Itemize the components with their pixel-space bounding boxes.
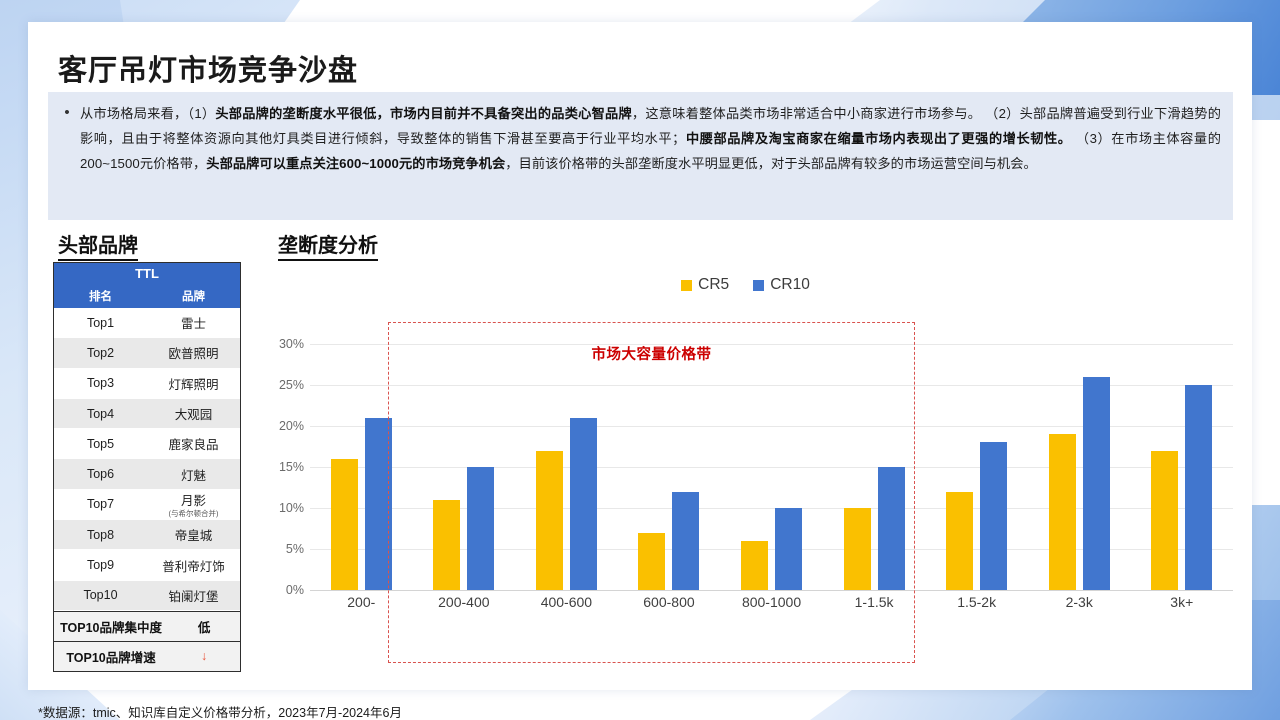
cell-rank: Top5: [54, 437, 147, 451]
column-header-rank: 排名: [54, 288, 147, 304]
legend-item-cr5: CR5: [681, 276, 729, 294]
cell-rank: Top2: [54, 346, 147, 360]
bar-cr10: [980, 442, 1007, 590]
summary-box: • 从市场格局来看，（1）头部品牌的垄断度水平很低，市场内目前并不具备突出的品类…: [48, 92, 1233, 220]
table-row: Top1雷士: [54, 308, 240, 338]
y-axis-tick-label: 25%: [258, 378, 304, 392]
highlight-price-band-label: 市场大容量价格带: [388, 343, 915, 364]
table-summary-row: TOP10品牌增速↓: [54, 641, 240, 671]
y-axis-tick-label: 10%: [258, 501, 304, 515]
legend-swatch-icon: [753, 280, 764, 291]
summary-segment-5: 头部品牌可以重点关注600~1000元的市场竞争机会: [206, 156, 505, 171]
cell-brand: 欧普照明: [147, 343, 240, 362]
trend-down-icon: ↓: [168, 649, 240, 663]
cell-rank: Top10: [54, 588, 147, 602]
bar-cr10: [1185, 385, 1212, 590]
bar-group: [1028, 344, 1131, 590]
legend-item-cr10: CR10: [753, 276, 810, 294]
x-axis-tick-label: 2-3k: [1028, 594, 1131, 610]
top-brand-table: TTL 排名 品牌 Top1雷士Top2欧普照明Top3灯辉照明Top4大观园T…: [53, 262, 241, 672]
bar-cr5: [1151, 451, 1178, 590]
bar-cr5: [1049, 434, 1076, 590]
y-axis-tick-label: 15%: [258, 460, 304, 474]
cell-rank: Top6: [54, 467, 147, 481]
page-title: 客厅吊灯市场竞争沙盘: [58, 47, 358, 89]
summary-key: TOP10品牌集中度: [54, 617, 168, 636]
cell-rank: Top1: [54, 316, 147, 330]
table-row: Top2欧普照明: [54, 338, 240, 368]
summary-key: TOP10品牌增速: [54, 647, 168, 666]
legend-swatch-icon: [681, 280, 692, 291]
cell-brand: 鹿家良品: [147, 434, 240, 453]
bullet-icon: •: [54, 101, 80, 211]
summary-segment-3: 中腰部品牌及淘宝商家在缩量市场内表现出了更强的增长韧性。: [685, 131, 1071, 146]
cell-brand: 灯辉照明: [147, 374, 240, 393]
table-row: Top4大观园: [54, 399, 240, 429]
summary-segment-6: ，目前该价格带的头部垄断度水平明显更低，对于头部品牌有较多的市场运营空间与机会。: [505, 156, 1037, 171]
legend-label: CR5: [698, 276, 729, 294]
y-axis-tick-label: 30%: [258, 337, 304, 351]
cell-brand: 铂阑灯堡: [147, 586, 240, 605]
legend-label: CR10: [770, 276, 810, 294]
section-header-monopoly: 垄断度分析: [278, 229, 378, 261]
bar-cr5: [331, 459, 358, 590]
bar-group: [1131, 344, 1234, 590]
table-row: Top7月影(与希尔顿合并): [54, 490, 240, 520]
x-axis-tick-label: 1.5-2k: [925, 594, 1028, 610]
y-axis-tick-label: 5%: [258, 542, 304, 556]
section-header-brand: 头部品牌: [58, 229, 138, 261]
cell-brand: 帝皇城: [147, 525, 240, 544]
cell-rank: Top8: [54, 528, 147, 542]
table-row: Top10铂阑灯堡: [54, 581, 240, 611]
cell-brand: 灯魅: [147, 465, 240, 484]
footnote: *数据源：tmic、知识库自定义价格带分析，2023年7月-2024年6月: [38, 702, 402, 720]
cell-rank: Top9: [54, 558, 147, 572]
table-row: Top8帝皇城: [54, 520, 240, 550]
y-axis-tick-label: 0%: [258, 583, 304, 597]
y-axis-tick-label: 20%: [258, 419, 304, 433]
cell-brand: 月影(与希尔顿合并): [147, 490, 240, 518]
bar-cr5: [946, 492, 973, 590]
table-row: Top9普利帝灯饰: [54, 550, 240, 580]
table-row: Top3灯辉照明: [54, 369, 240, 399]
table-title: TTL: [54, 263, 240, 284]
summary-segment-1: 头部品牌的垄断度水平很低，市场内目前并不具备突出的品类心智品牌: [215, 106, 632, 121]
bar-group: [925, 344, 1028, 590]
summary-value: 低: [168, 617, 240, 636]
table-summary-row: TOP10品牌集中度低: [54, 611, 240, 641]
table-header-row: 排名 品牌: [54, 284, 240, 308]
cell-rank: Top3: [54, 376, 147, 390]
chart-legend: CR5CR10: [258, 276, 1233, 294]
table-row: Top5鹿家良品: [54, 429, 240, 459]
bar-cr10: [1083, 377, 1110, 590]
cell-rank: Top4: [54, 407, 147, 421]
cell-rank: Top7: [54, 497, 147, 511]
column-header-brand: 品牌: [147, 288, 240, 304]
table-row: Top6灯魅: [54, 459, 240, 489]
cell-brand: 普利帝灯饰: [147, 556, 240, 575]
x-axis-tick-label: 3k+: [1131, 594, 1234, 610]
summary-text: 从市场格局来看，（1）头部品牌的垄断度水平很低，市场内目前并不具备突出的品类心智…: [80, 101, 1221, 211]
cell-brand: 雷士: [147, 313, 240, 332]
summary-segment-0: 从市场格局来看，（1）: [80, 106, 215, 121]
cell-brand-note: (与希尔顿合并): [147, 509, 240, 518]
cell-brand: 大观园: [147, 404, 240, 423]
highlight-price-band-box: [388, 322, 915, 663]
